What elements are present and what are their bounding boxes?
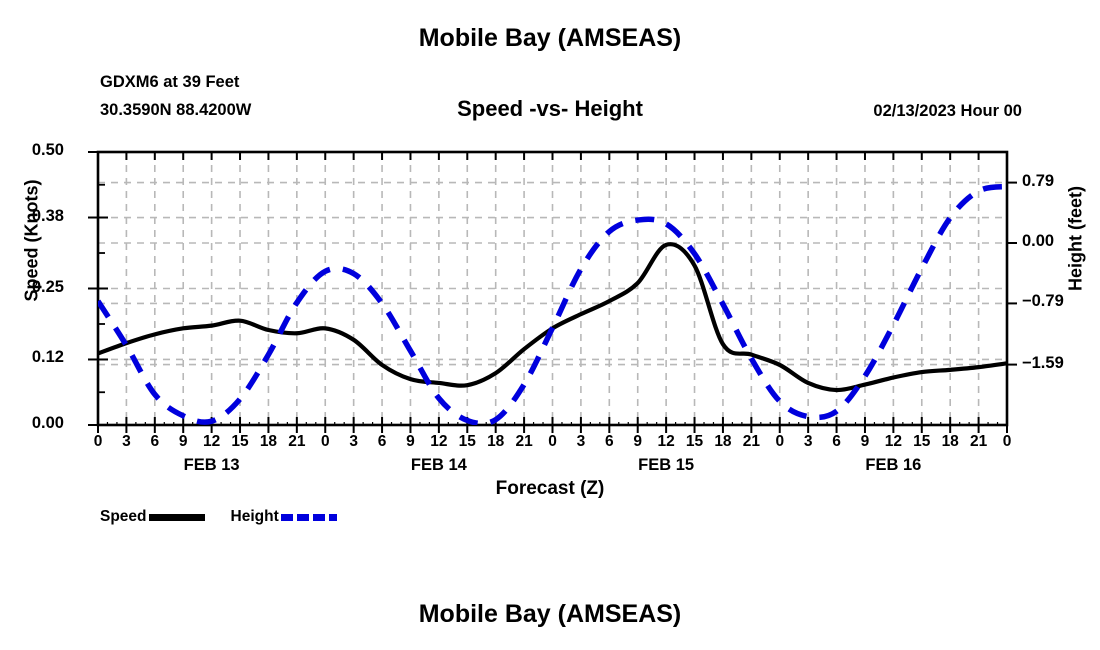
x-tick-label: 3 <box>111 433 141 451</box>
y-tick-label-left: 0.25 <box>32 278 64 297</box>
x-tick-label: 3 <box>566 433 596 451</box>
x-tick-label: 12 <box>424 433 454 451</box>
y-tick-label-left: 0.00 <box>32 414 64 433</box>
y-tick-label-right: −0.79 <box>1022 292 1064 311</box>
x-tick-label: 9 <box>623 433 653 451</box>
legend-item-height: Height <box>231 508 337 526</box>
y-tick-label-right: 0.00 <box>1022 232 1054 251</box>
x-tick-label: 18 <box>253 433 283 451</box>
x-tick-label: 21 <box>282 433 312 451</box>
x-axis-day-label: FEB 15 <box>611 456 721 475</box>
x-tick-label: 12 <box>197 433 227 451</box>
x-tick-label: 18 <box>935 433 965 451</box>
y-tick-label-left: 0.50 <box>32 141 64 160</box>
x-tick-label: 15 <box>907 433 937 451</box>
chart-page: Mobile Bay (AMSEAS) GDXM6 at 39 Feet 30.… <box>0 0 1100 650</box>
x-tick-label: 9 <box>395 433 425 451</box>
x-axis-day-label: FEB 14 <box>384 456 494 475</box>
x-tick-label: 18 <box>481 433 511 451</box>
legend-item-speed: Speed <box>100 508 205 526</box>
x-tick-label: 0 <box>83 433 113 451</box>
x-tick-label: 3 <box>339 433 369 451</box>
y-tick-label-right: 0.79 <box>1022 172 1054 191</box>
x-tick-label: 21 <box>509 433 539 451</box>
x-tick-label: 6 <box>822 433 852 451</box>
x-axis-day-label: FEB 13 <box>157 456 267 475</box>
page-title-bottom: Mobile Bay (AMSEAS) <box>0 600 1100 629</box>
plot-canvas <box>0 0 1100 650</box>
x-tick-label: 12 <box>651 433 681 451</box>
x-tick-label: 21 <box>964 433 994 451</box>
legend-swatch-speed <box>149 514 205 521</box>
x-tick-label: 9 <box>168 433 198 451</box>
legend-label-speed: Speed <box>100 508 147 526</box>
x-tick-label: 21 <box>736 433 766 451</box>
y-tick-label-right: −1.59 <box>1022 354 1064 373</box>
x-tick-label: 0 <box>538 433 568 451</box>
x-tick-label: 6 <box>367 433 397 451</box>
x-tick-label: 0 <box>992 433 1022 451</box>
x-tick-label: 15 <box>452 433 482 451</box>
chart-legend: Speed Height <box>100 508 337 526</box>
x-tick-label: 0 <box>765 433 795 451</box>
x-tick-label: 9 <box>850 433 880 451</box>
x-tick-label: 3 <box>793 433 823 451</box>
x-tick-label: 18 <box>708 433 738 451</box>
x-tick-label: 12 <box>878 433 908 451</box>
legend-label-height: Height <box>231 508 279 526</box>
x-tick-label: 15 <box>225 433 255 451</box>
x-axis-day-label: FEB 16 <box>838 456 948 475</box>
x-tick-label: 6 <box>594 433 624 451</box>
x-tick-label: 6 <box>140 433 170 451</box>
x-tick-label: 15 <box>680 433 710 451</box>
legend-swatch-height <box>281 514 337 521</box>
x-tick-label: 0 <box>310 433 340 451</box>
y-tick-label-left: 0.12 <box>32 348 64 367</box>
y-tick-label-left: 0.38 <box>32 207 64 226</box>
